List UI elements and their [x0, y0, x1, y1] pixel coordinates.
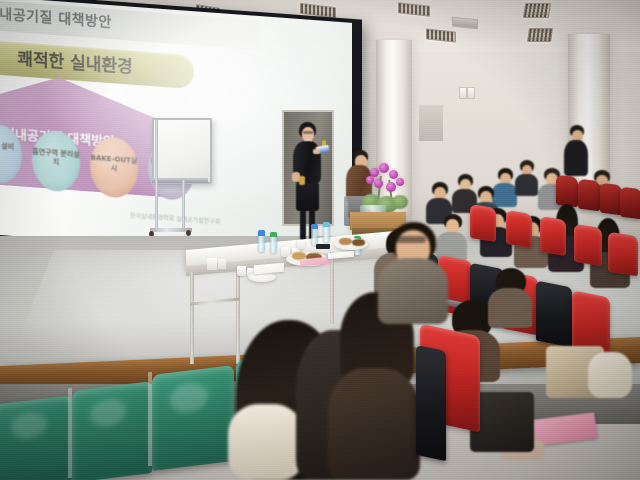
- presenter-head: [302, 127, 314, 141]
- attendee-body: [515, 174, 538, 196]
- auditorium-seat[interactable]: [470, 204, 496, 242]
- presenter-leg: [300, 210, 306, 240]
- light-switch[interactable]: [459, 87, 467, 99]
- wall-panel: [419, 105, 443, 141]
- orchid-flower: [386, 182, 396, 192]
- presenter-glasses: [303, 131, 313, 134]
- attendee-head: [446, 219, 459, 233]
- table-leg: [190, 272, 194, 364]
- attendee-body: [492, 183, 517, 207]
- food-item: [339, 238, 352, 245]
- orchid-flower: [379, 163, 389, 173]
- auditorium-seat[interactable]: [540, 216, 566, 256]
- auditorium-seat[interactable]: [600, 183, 622, 216]
- fur-collar: [228, 404, 304, 480]
- food-item: [352, 239, 365, 246]
- table-leg: [236, 268, 240, 364]
- dark-object: [316, 244, 330, 249]
- whiteboard-stand-leg: [155, 120, 158, 232]
- attendee-glasses: [396, 236, 426, 243]
- bench-seam: [68, 388, 72, 478]
- auditorium-seat-back[interactable]: [416, 345, 446, 461]
- ceiling-light-fixture: [523, 3, 551, 18]
- presenter-hand: [313, 149, 320, 154]
- front-bench-seat[interactable]: [72, 381, 152, 480]
- whiteboard-marker-tray: [152, 178, 208, 183]
- front-bench-seat[interactable]: [152, 365, 234, 471]
- paper-cup[interactable]: [237, 266, 246, 276]
- bench-seam: [148, 372, 152, 466]
- water-bottle[interactable]: [258, 230, 265, 252]
- auditorium-seat[interactable]: [620, 187, 640, 220]
- attendee-body: [488, 288, 532, 328]
- orchid-flower: [374, 179, 383, 188]
- orchid-flower: [366, 176, 374, 184]
- paper-cup[interactable]: [297, 240, 305, 249]
- tissue-box[interactable]: [207, 258, 217, 270]
- attendee-body: [564, 140, 588, 176]
- whiteboard-stand-post: [182, 180, 185, 232]
- napkin-holder[interactable]: [218, 259, 226, 269]
- front-bench-seat[interactable]: [0, 395, 72, 480]
- water-bottle[interactable]: [270, 232, 277, 253]
- foliage: [392, 195, 408, 209]
- auditorium-seat[interactable]: [556, 175, 578, 208]
- auditorium-seat[interactable]: [578, 179, 600, 212]
- auditorium-photo: 발표회 발표회 대구대학교 환경공학과 실내공기질 대책방안 쾌적한 실내환경 …: [0, 0, 640, 480]
- auditorium-seat[interactable]: [506, 210, 532, 248]
- auditorium-seat[interactable]: [574, 224, 602, 266]
- water-bottle[interactable]: [323, 222, 330, 242]
- ceiling-light-fixture: [527, 28, 553, 42]
- whiteboard: [152, 118, 212, 184]
- orchid-flower: [396, 178, 404, 186]
- auditorium-seat-back[interactable]: [536, 281, 572, 348]
- water-bottle[interactable]: [311, 224, 318, 245]
- attendee-body: [378, 258, 448, 324]
- presenter-held-item: [299, 176, 305, 185]
- light-switch[interactable]: [467, 87, 475, 99]
- presenter-skirt: [296, 183, 319, 211]
- orchid-flower: [389, 170, 398, 179]
- fur-collar: [588, 352, 632, 398]
- attendee-coat: [328, 368, 420, 480]
- auditorium-seat[interactable]: [608, 232, 638, 277]
